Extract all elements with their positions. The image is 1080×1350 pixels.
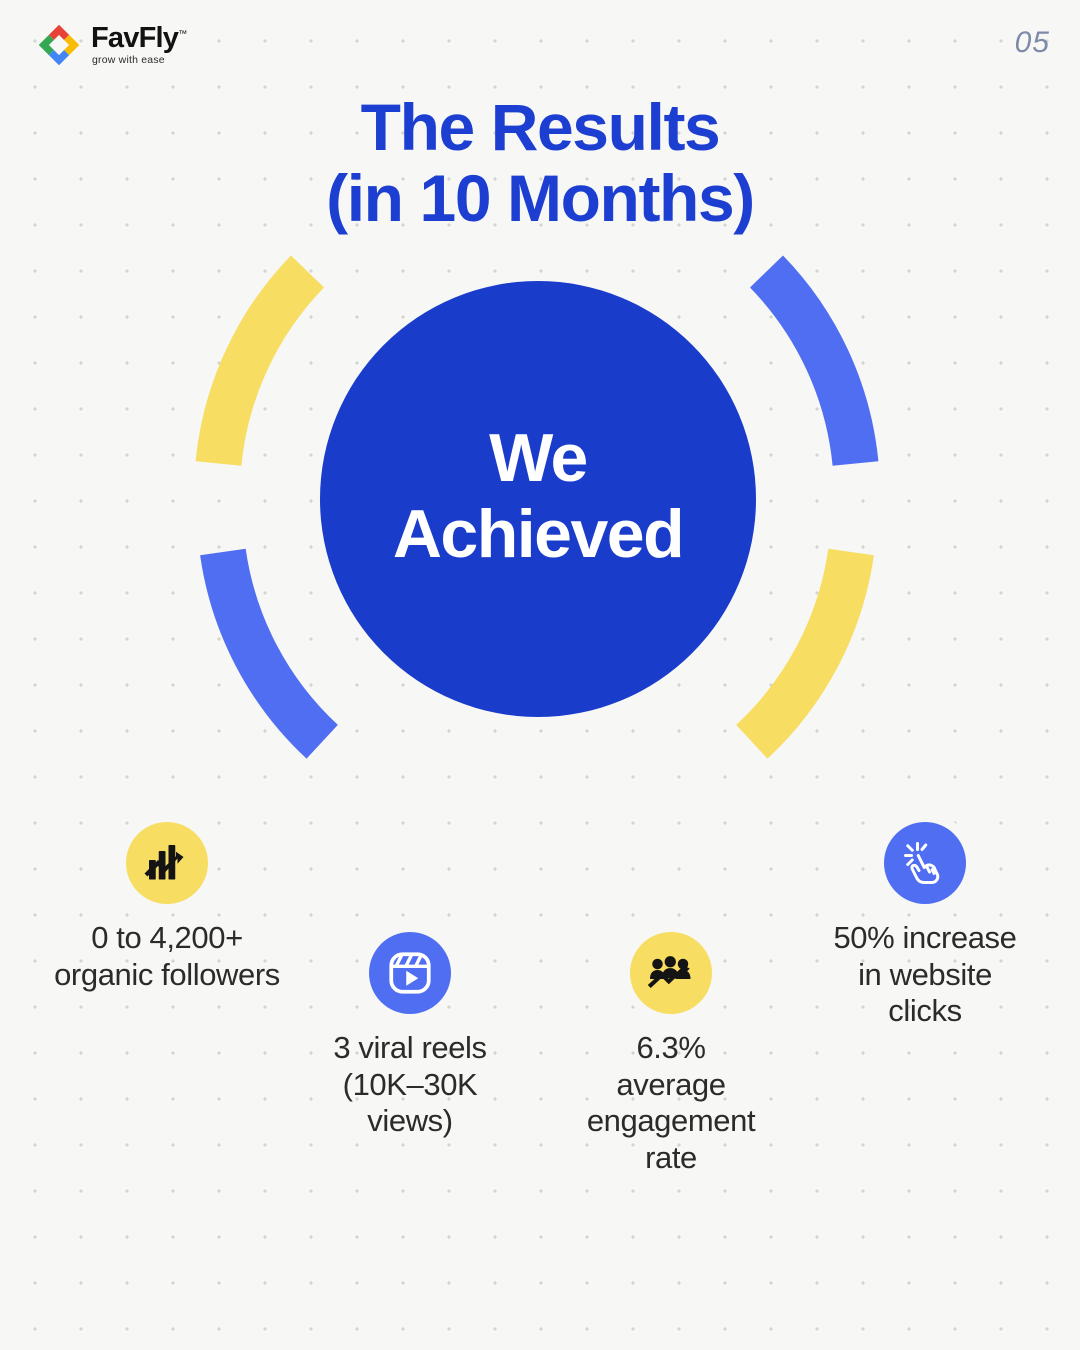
brand-wordmark: FavFly™ bbox=[91, 24, 186, 53]
stat-item-clicks: 50% increase in website clicks bbox=[780, 822, 1070, 1030]
click-hand-cursor-icon bbox=[901, 839, 949, 887]
stat-label-clicks: 50% increase in website clicks bbox=[833, 920, 1016, 1030]
stat-item-engagement: 6.3% average engagement rate bbox=[556, 932, 786, 1176]
favfly-diamond-logo-icon bbox=[36, 22, 82, 68]
center-disc: We Achieved bbox=[320, 281, 756, 717]
stat-icon-followers bbox=[126, 822, 208, 904]
stat-label-followers: 0 to 4,200+ organic followers bbox=[54, 920, 280, 993]
center-label-line-2: Achieved bbox=[393, 496, 683, 572]
trademark-symbol: ™ bbox=[178, 29, 186, 39]
slide-canvas: FavFly™ grow with ease 05 The Results (i… bbox=[0, 0, 1080, 1350]
page-number: 05 bbox=[1015, 26, 1050, 60]
stat-label-engagement: 6.3% average engagement rate bbox=[587, 1030, 755, 1176]
audience-growth-icon bbox=[647, 949, 695, 997]
brand-name: FavFly bbox=[91, 22, 178, 54]
stat-icon-clicks bbox=[884, 822, 966, 904]
ring-segment-upper-left bbox=[219, 272, 308, 464]
stat-label-reels: 3 viral reels (10K–30K views) bbox=[333, 1030, 486, 1140]
ring-segment-upper-right bbox=[767, 272, 856, 464]
center-label-line-1: We bbox=[393, 420, 683, 496]
stat-item-reels: 3 viral reels (10K–30K views) bbox=[300, 932, 520, 1140]
brand-tagline: grow with ease bbox=[92, 55, 186, 66]
stat-icon-engagement bbox=[630, 932, 712, 1014]
brand-logo: FavFly™ grow with ease bbox=[36, 22, 186, 68]
ring-segment-lower-right bbox=[752, 552, 851, 742]
stat-icon-reels bbox=[369, 932, 451, 1014]
ring-segment-lower-left bbox=[223, 552, 322, 742]
center-label: We Achieved bbox=[393, 420, 683, 578]
reels-clapperboard-play-icon bbox=[386, 949, 434, 997]
stat-item-followers: 0 to 4,200+ organic followers bbox=[12, 822, 322, 993]
bar-chart-growth-icon bbox=[143, 839, 191, 887]
